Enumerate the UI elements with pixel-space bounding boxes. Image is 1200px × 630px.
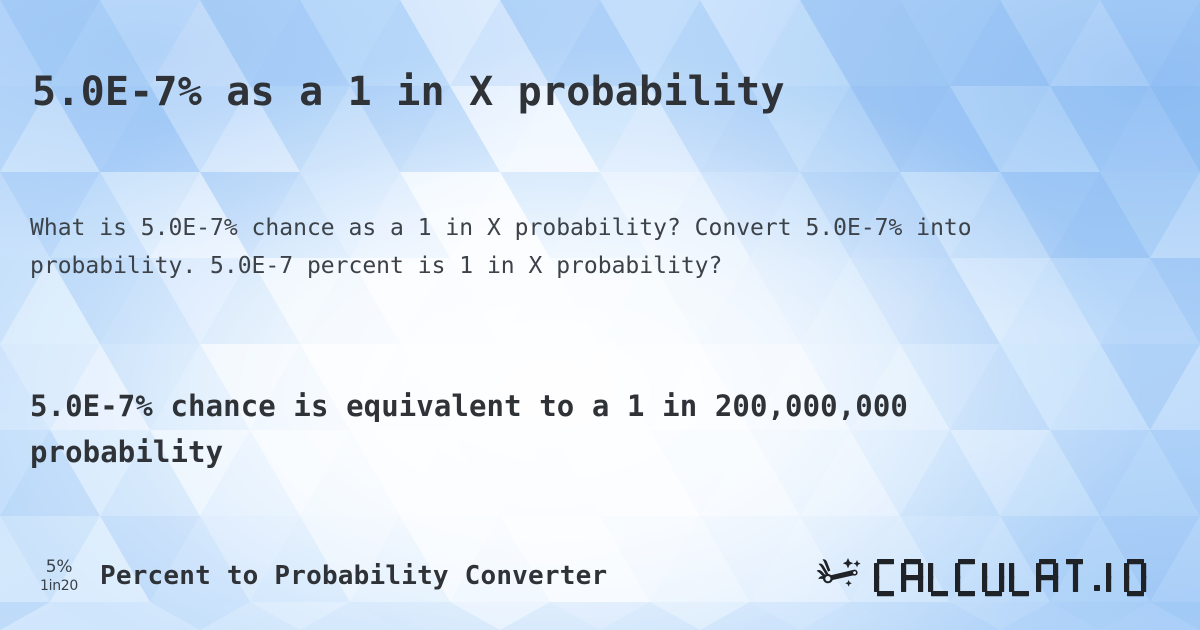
share-card: 5.0E-7% as a 1 in X probability What is … (0, 0, 1200, 630)
footer-brand-left: 5% 1in20 Percent to Probability Converte… (30, 545, 607, 607)
brand-wordmark (874, 553, 1180, 597)
page-title: 5.0E-7% as a 1 in X probability (32, 69, 1172, 115)
magic-wand-hand-icon (814, 553, 870, 597)
brand-logo[interactable] (814, 547, 1180, 603)
answer-statement: 5.0E-7% chance is equivalent to a 1 in 2… (30, 383, 1070, 475)
footer: 5% 1in20 Percent to Probability Converte… (0, 545, 1200, 615)
ratio-icon-percent-label: 5% (46, 559, 73, 577)
intro-paragraph: What is 5.0E-7% chance as a 1 in X proba… (30, 209, 1090, 285)
card-content: 5.0E-7% as a 1 in X probability What is … (0, 0, 1200, 630)
percent-to-ratio-icon: 5% 1in20 (30, 553, 88, 599)
footer-converter-title: Percent to Probability Converter (100, 561, 607, 591)
ratio-icon-ratio-label: 1in20 (40, 579, 78, 594)
